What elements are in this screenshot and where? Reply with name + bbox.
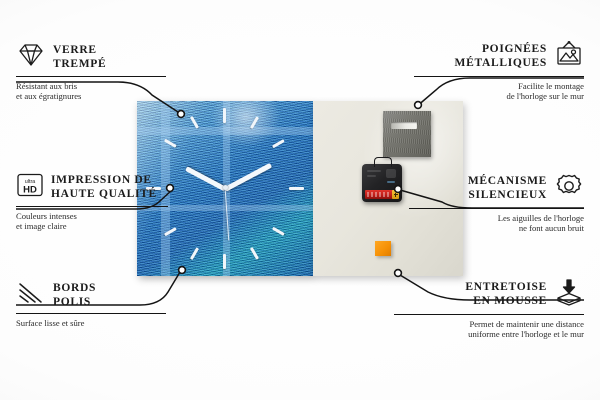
callout-rule	[414, 76, 584, 77]
callout-subtitle-2: uniforme entre l'horloge et le mur	[394, 329, 584, 340]
callout-title-2: EN MOUSSE	[465, 295, 547, 309]
battery	[365, 190, 397, 199]
callout-entretoise: ENTRETOISE EN MOUSSE Permet de maintenir…	[394, 278, 584, 340]
callout-title: POIGNÉES	[455, 43, 547, 57]
glass-glare	[211, 101, 281, 147]
callout-subtitle: Facilite le montage	[414, 81, 584, 92]
hour-tick	[289, 187, 304, 190]
callout-title-2: POLIS	[53, 296, 96, 310]
callout-subtitle: Les aiguilles de l'horloge	[409, 213, 584, 224]
movement-detail	[387, 181, 395, 183]
hour-tick	[223, 254, 226, 269]
callout-rule	[16, 76, 166, 77]
hour-tick	[223, 108, 226, 123]
callout-subtitle-2: ne font aucun bruit	[409, 223, 584, 234]
metal-handle-plate	[383, 111, 431, 157]
picture-hanger-icon	[554, 40, 584, 73]
callout-subtitle-2: et aux égratignures	[16, 91, 166, 102]
callout-mecanisme: MÉCANISME SILENCIEUX Les aiguilles de l'…	[409, 172, 584, 234]
callout-title-2: SILENCIEUX	[468, 189, 547, 203]
hour-tick	[190, 247, 199, 260]
gear-icon	[554, 172, 584, 205]
ultra-hd-icon: ultra HD	[16, 172, 44, 203]
callout-rule	[16, 313, 166, 314]
callout-rule	[16, 206, 168, 207]
callout-title: VERRE	[53, 44, 106, 58]
infographic-canvas: VERRE TREMPÉ Résistant aux bris et aux é…	[0, 0, 600, 400]
callout-subtitle: Résistant aux bris	[16, 81, 166, 92]
callout-title: MÉCANISME	[468, 175, 547, 189]
callout-subtitle: Permet de maintenir une distance	[394, 319, 584, 330]
callout-verre-trempe: VERRE TREMPÉ Résistant aux bris et aux é…	[16, 42, 166, 102]
svg-text:HD: HD	[23, 185, 37, 196]
callout-rule	[394, 314, 584, 315]
callout-subtitle-2: de l'horloge sur le mur	[414, 91, 584, 102]
hour-tick	[272, 227, 285, 236]
movement-detail	[367, 170, 381, 172]
movement-hanger-loop	[374, 157, 392, 167]
hour-tick	[250, 247, 259, 260]
foam-spacer-pad	[375, 241, 391, 256]
battery-label	[367, 192, 391, 197]
callout-poignees: POIGNÉES MÉTALLIQUES Facilite le montage…	[414, 40, 584, 102]
clock-movement	[362, 164, 402, 202]
callout-subtitle-2: et image claire	[16, 221, 168, 232]
callout-title: ENTRETOISE	[465, 281, 547, 295]
callout-rule	[409, 208, 584, 209]
foam-spacer-icon	[554, 278, 584, 311]
callout-bords-polis: BORDS POLIS Surface lisse et sûre	[16, 281, 166, 328]
clock-hub	[223, 185, 228, 190]
callout-title-2: TREMPÉ	[53, 58, 106, 72]
callout-subtitle: Couleurs intenses	[16, 211, 168, 222]
callout-title: IMPRESSION DE	[51, 174, 157, 188]
callout-subtitle: Surface lisse et sûre	[16, 318, 166, 329]
callout-impression: ultra HD IMPRESSION DE HAUTE QUALITÉ Cou…	[16, 172, 168, 232]
polished-edge-icon	[16, 281, 46, 310]
movement-detail	[367, 175, 376, 177]
hour-hand	[185, 167, 226, 192]
handle-keyhole-slot	[391, 122, 417, 129]
callout-title-2: MÉTALLIQUES	[455, 57, 547, 71]
callout-title-2: HAUTE QUALITÉ	[51, 188, 157, 202]
minute-hand	[224, 163, 272, 191]
callout-title: BORDS	[53, 282, 96, 296]
movement-detail	[386, 169, 396, 178]
diamond-icon	[16, 42, 46, 73]
battery-positive-terminal	[392, 190, 399, 199]
